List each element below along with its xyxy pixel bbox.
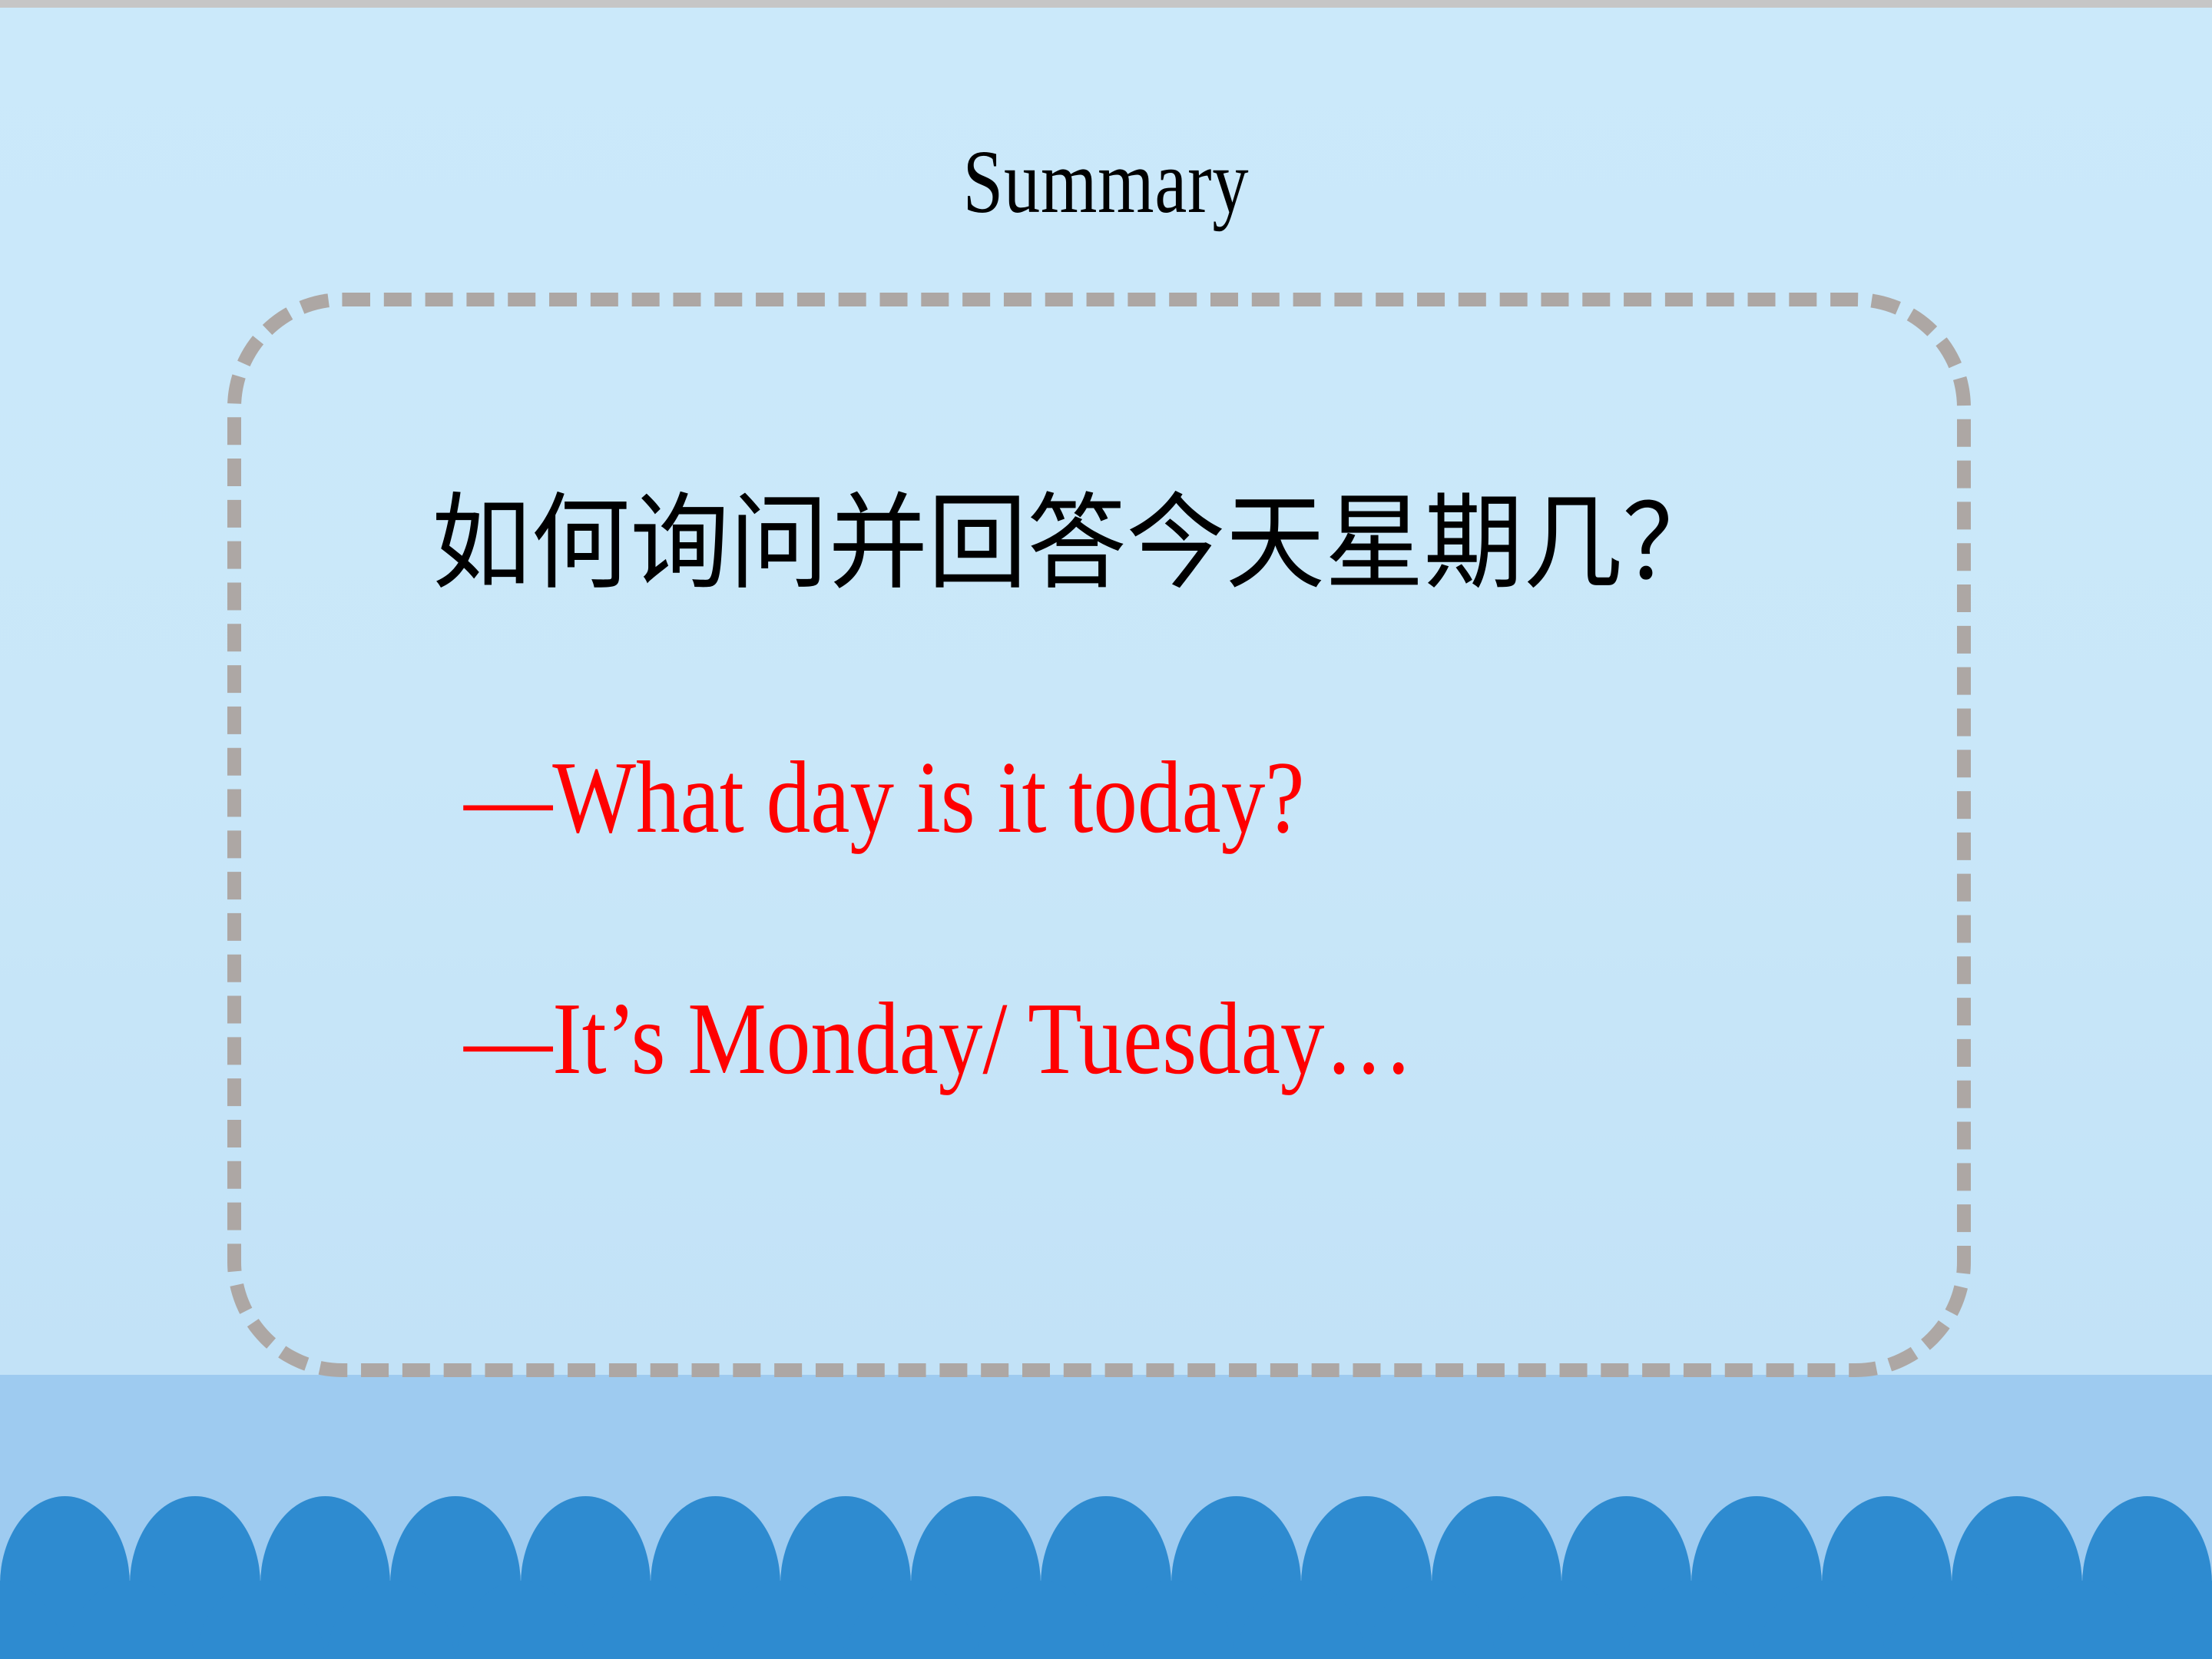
scallop-shape bbox=[1757, 1581, 1886, 1659]
scallop-shape bbox=[846, 1581, 975, 1659]
scallop-shape bbox=[195, 1581, 325, 1659]
scallop-row-front bbox=[0, 1581, 2212, 1659]
content-line-answer-en: —It’s Monday/ Tuesday… bbox=[464, 987, 1413, 1090]
slide-canvas: Summary 如何询问并回答今天星期几？ —What day is it to… bbox=[0, 0, 2212, 1659]
content-body: 如何询问并回答今天星期几？ —What day is it today? —It… bbox=[241, 306, 1985, 1391]
scallop-shape bbox=[455, 1581, 585, 1659]
scallop-shape bbox=[1496, 1581, 1626, 1659]
scallop-shape bbox=[1236, 1581, 1366, 1659]
scallop-shape bbox=[716, 1581, 846, 1659]
scallop-shape bbox=[65, 1581, 195, 1659]
scallop-shape bbox=[1106, 1581, 1236, 1659]
scallop-shape bbox=[326, 1581, 455, 1659]
scallop-shape bbox=[1366, 1581, 1496, 1659]
scallop-shape bbox=[1627, 1581, 1757, 1659]
scallop-shape bbox=[976, 1581, 1106, 1659]
scallop-shape bbox=[2017, 1581, 2147, 1659]
content-line-question-en: —What day is it today? bbox=[464, 746, 1305, 849]
content-dashed-frame: 如何询问并回答今天星期几？ —What day is it today? —It… bbox=[227, 293, 1971, 1377]
content-line-question-cn: 如何询问并回答今天星期几？ bbox=[432, 492, 1722, 597]
page-title: Summary bbox=[221, 137, 1991, 227]
scallop-shape bbox=[1886, 1581, 2016, 1659]
scallop-shape bbox=[2147, 1581, 2212, 1659]
scallop-shape bbox=[585, 1581, 715, 1659]
bottom-decoration-band bbox=[0, 1375, 2212, 1659]
scallop-shape bbox=[0, 1581, 65, 1659]
top-edge-strip bbox=[0, 0, 2212, 8]
